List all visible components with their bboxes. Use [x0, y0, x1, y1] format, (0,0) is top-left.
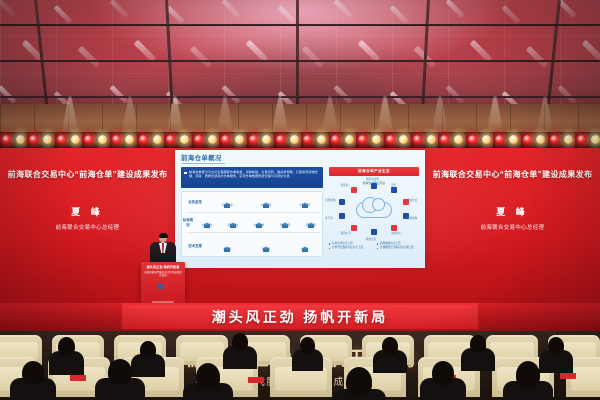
- diagram-node: [351, 187, 357, 193]
- audience-head: [58, 337, 75, 356]
- stage-lamp-warm: [480, 133, 493, 148]
- right-speaker-name: 夏 峰: [425, 205, 600, 218]
- capability-cell: 质检标准: [220, 216, 246, 227]
- diagram-node: [339, 199, 345, 205]
- audience-area: [0, 331, 600, 400]
- stage-lamp-warm: [507, 133, 520, 148]
- capability-cell: 风控体系: [298, 216, 324, 227]
- stage-lamp-red: [247, 133, 260, 148]
- stage-lamp-red: [274, 133, 287, 148]
- lamp-bulb-icon: [550, 135, 559, 144]
- lamp-bulb-icon: [2, 135, 11, 144]
- lamp-bulb-icon: [509, 135, 518, 144]
- podium-text: 潮头风正劲 扬帆开新局 前海深港现代服务业合作区成果发布活动: [144, 265, 182, 278]
- lamp-bulb-icon: [468, 135, 477, 144]
- cloud-icon: [356, 202, 392, 218]
- capability-cell: 物联网: [253, 240, 279, 251]
- capability-row: 业务应用仓单注册仓单流转仓单质押: [182, 196, 324, 207]
- stage-lamp-warm: [288, 133, 301, 148]
- capability-row-label: 业务应用: [182, 199, 208, 204]
- speaker-hair: [159, 233, 168, 238]
- diagram-node-label: 仓储企业: [407, 198, 417, 202]
- left-speaker-name: 夏 峰: [0, 205, 175, 218]
- right-speaker-role: 前海联合交易中心总经理: [425, 223, 600, 231]
- presentation-slide: 前海仓单概况 前海仓单登记平台可全程跟踪仓单收发、货物检验、交易流转、融资质押等…: [175, 150, 425, 268]
- audience-head: [548, 337, 564, 355]
- audience-head: [196, 363, 220, 391]
- lamp-bulb-icon: [235, 135, 244, 144]
- audience-head: [382, 337, 398, 355]
- capability-row-label: 标准规则: [182, 217, 194, 227]
- lamp-bulb-icon: [208, 135, 217, 144]
- lamp-bulb-icon: [125, 135, 134, 144]
- chart-icon: [229, 216, 237, 223]
- slide-bullet-groups: 标准仓单业务上链仓单登记数据可信共享上链 质押融资信息上链仓储物流全流程可信追溯…: [329, 242, 421, 251]
- capability-cells: 仓单注册仓单流转仓单质押: [208, 196, 324, 207]
- stage-lamp-red: [493, 133, 506, 148]
- capability-cell: 仓单流转: [253, 196, 279, 207]
- lamp-bulb-icon: [427, 135, 436, 144]
- stage-lamp-red: [438, 133, 451, 148]
- diagram-node: [351, 225, 357, 231]
- stage-lamp-red: [466, 133, 479, 148]
- stage-lamp-warm: [425, 133, 438, 148]
- left-headline: 前海联合交易中心“前海仓单”建设成果发布: [0, 170, 175, 181]
- diagram-node-label: 生产商: [325, 216, 333, 220]
- iot-icon: [262, 240, 270, 247]
- stage-lamp-red: [301, 133, 314, 148]
- audience-head: [470, 335, 486, 353]
- right-headline: 前海联合交易中心“前海仓单”建设成果发布: [425, 170, 600, 181]
- bullets-right: 质押融资信息上链仓储物流全流程可信追溯上链: [377, 242, 421, 251]
- stage-lamp-red: [356, 133, 369, 148]
- capability-caption: 质检标准: [220, 224, 246, 227]
- lamp-bulb-icon: [262, 135, 271, 144]
- podium: 潮头风正劲 扬帆开新局 前海深港现代服务业合作区成果发布活动: [141, 262, 185, 308]
- stage-lamp-warm: [534, 133, 547, 148]
- diagram-node: [371, 229, 377, 235]
- capability-caption: 物联网: [253, 248, 279, 251]
- lamp-bulb-icon: [112, 135, 121, 144]
- stage-lamp-red: [219, 133, 232, 148]
- capability-divider: [186, 232, 320, 233]
- stage-lamp-warm: [206, 133, 219, 148]
- capability-cells: 区块链物联网大数据: [208, 240, 324, 251]
- lock-icon: [301, 196, 309, 203]
- capability-divider: [186, 212, 320, 213]
- bullets-left: 标准仓单业务上链仓单登记数据可信共享上链: [329, 242, 373, 251]
- lamp-bulb-icon: [440, 135, 449, 144]
- audience-head: [432, 361, 454, 385]
- conference-hall-photo: 前海联合交易中心“前海仓单”建设成果发布 夏 峰 前海联合交易中心总经理 前海联…: [0, 0, 600, 400]
- capability-row-label: 技术支撑: [182, 243, 208, 248]
- podium-line2: 前海深港现代服务业合作区成果发布活动: [144, 271, 182, 279]
- name-card: [248, 377, 264, 383]
- stage-light-bar: [0, 132, 600, 149]
- capability-caption: 仓单流转: [253, 204, 279, 207]
- audience-head: [140, 341, 156, 359]
- cloud-center-label: 前海仓单登记平台: [329, 182, 419, 186]
- lamp-bulb-icon: [358, 135, 367, 144]
- callout-bullet-icon: [184, 172, 187, 175]
- stage-lamp-red: [55, 133, 68, 148]
- audience-head: [22, 361, 44, 385]
- lamp-bulb-icon: [16, 135, 25, 144]
- lamp-bulb-icon: [71, 135, 80, 144]
- stage-apron-right: [478, 303, 600, 331]
- stage-lamp-warm: [260, 133, 273, 148]
- lamp-bulb-icon: [331, 135, 340, 144]
- lamp-bulb-icon: [317, 135, 326, 144]
- diagram-node: [391, 187, 397, 193]
- lamp-bulb-icon: [139, 135, 148, 144]
- lamp-bulb-icon: [166, 135, 175, 144]
- podium-line1: 潮头风正劲 扬帆开新局: [144, 265, 182, 270]
- stage-lamp-warm: [452, 133, 465, 148]
- prefecture-logo-icon: [157, 284, 169, 289]
- stage-lamp-red: [411, 133, 424, 148]
- capability-cell: 仓单注册: [214, 196, 240, 207]
- lamp-bulb-icon: [290, 135, 299, 144]
- stage-lamp-warm: [397, 133, 410, 148]
- lamp-bulb-icon: [536, 135, 545, 144]
- diagram-node-label: 交易中心: [391, 231, 401, 235]
- lamp-bulb-icon: [180, 135, 189, 144]
- diagram-node: [391, 225, 397, 231]
- stage-lamp-warm: [151, 133, 164, 148]
- stage-lamp-warm: [123, 133, 136, 148]
- stage-lamp-red: [82, 133, 95, 148]
- briefcase-icon: [307, 216, 315, 223]
- lamp-bulb-icon: [523, 135, 532, 144]
- lamp-bulb-icon: [57, 135, 66, 144]
- stage-lamp-red: [521, 133, 534, 148]
- slide-callout-box: 前海仓单登记平台可全程跟踪仓单收发、货物检验、交易流转、融资质押等，打造贯穿货物…: [181, 167, 323, 188]
- stage-lamp-red: [0, 133, 13, 148]
- lamp-bulb-icon: [386, 135, 395, 144]
- lamp-bulb-icon: [495, 135, 504, 144]
- stage-lamp-warm: [343, 133, 356, 148]
- stage-lamp-warm: [562, 133, 575, 148]
- blockchain-icon: [223, 240, 231, 247]
- audience-head: [300, 337, 315, 354]
- lamp-bulb-icon: [98, 135, 107, 144]
- capability-row: 技术支撑区块链物联网大数据: [182, 240, 324, 251]
- capability-cell: 仓单质押: [292, 196, 318, 207]
- stage-lamp-red: [27, 133, 40, 148]
- speaker-person: [148, 233, 178, 265]
- capability-caption: 仓单注册: [214, 204, 240, 207]
- stage-apron-left: [0, 303, 122, 331]
- audience-head: [516, 361, 540, 389]
- capability-cell: 金融机构: [246, 216, 272, 227]
- slide-bullet: 仓单登记数据可信共享上链: [329, 246, 373, 250]
- stage-lamp-warm: [589, 133, 600, 148]
- lamp-bulb-icon: [153, 135, 162, 144]
- stage-lamp-warm: [178, 133, 191, 148]
- document-icon: [203, 216, 211, 223]
- capability-cell: 仓储标准: [194, 216, 220, 227]
- lamp-bulb-icon: [399, 135, 408, 144]
- lamp-bulb-icon: [194, 135, 203, 144]
- slide-callout-text: 前海仓单登记平台可全程跟踪仓单收发、货物检验、交易流转、融资质押等，打造贯穿货物…: [189, 170, 320, 180]
- stage-lamp-warm: [233, 133, 246, 148]
- stage-lamp-red: [192, 133, 205, 148]
- lamp-bulb-icon: [372, 135, 381, 144]
- lamp-bulb-icon: [577, 135, 586, 144]
- stage-lamp-red: [137, 133, 150, 148]
- capability-cell: 登记规则: [272, 216, 298, 227]
- audience-head: [108, 359, 132, 385]
- lamp-bulb-icon: [84, 135, 93, 144]
- stage-lamp-red: [384, 133, 397, 148]
- ceiling-rail: [0, 60, 600, 62]
- diagram-node-label: 物流企业: [366, 237, 376, 241]
- lamp-bulb-icon: [43, 135, 52, 144]
- diagram-node-label: 保险公司: [341, 231, 351, 235]
- dots-icon: [281, 216, 289, 223]
- led-right-title-panel: 前海联合交易中心“前海仓单”建设成果发布 夏 峰 前海联合交易中心总经理: [425, 148, 600, 260]
- stage-lamp-warm: [41, 133, 54, 148]
- bigdata-icon: [301, 240, 309, 247]
- name-card: [70, 375, 86, 381]
- stage-lamp-warm: [96, 133, 109, 148]
- capability-caption: 大数据: [292, 248, 318, 251]
- audience-head: [232, 333, 248, 351]
- ceiling-rail: [0, 24, 600, 26]
- ceiling-rail: [0, 96, 600, 98]
- lamp-bulb-icon: [276, 135, 285, 144]
- slide-title: 前海仓单概况: [181, 153, 222, 162]
- diagram-node-label: 质检机构: [407, 216, 417, 220]
- warehouse-icon: [223, 196, 231, 203]
- stage-lamp-red: [164, 133, 177, 148]
- diagram-node: [339, 213, 345, 219]
- slide-title-rule: [181, 163, 225, 164]
- stage-banner: 潮头风正劲 扬帆开新局: [121, 305, 478, 329]
- slide-bullet: 仓储物流全流程可信追溯上链: [377, 246, 421, 250]
- lamp-bulb-icon: [591, 135, 600, 144]
- stage-lamp-red: [110, 133, 123, 148]
- capability-cells: 仓储标准质检标准金融机构登记规则风控体系: [194, 216, 324, 227]
- lamp-bulb-icon: [29, 135, 38, 144]
- slide-capability-card: 业务应用仓单注册仓单流转仓单质押标准规则仓储标准质检标准金融机构登记规则风控体系…: [181, 191, 323, 257]
- capability-caption: 风控体系: [298, 224, 324, 227]
- stage-lamp-red: [329, 133, 342, 148]
- ceiling: [0, 0, 600, 112]
- stage-lamp-red: [575, 133, 588, 148]
- slide-ecosystem-banner: 前海仓单产业生态: [329, 167, 419, 176]
- stage-lamp-warm: [315, 133, 328, 148]
- lamp-bulb-icon: [564, 135, 573, 144]
- capability-cell: 区块链: [214, 240, 240, 251]
- lamp-bulb-icon: [413, 135, 422, 144]
- audience-head: [346, 367, 372, 397]
- lamp-bulb-icon: [303, 135, 312, 144]
- network-icon: [262, 196, 270, 203]
- lamp-bulb-icon: [454, 135, 463, 144]
- stage-lamp-warm: [14, 133, 27, 148]
- stage-lamp-red: [548, 133, 561, 148]
- lamp-bulb-icon: [482, 135, 491, 144]
- stage-banner-text: 潮头风正劲 扬帆开新局: [211, 307, 388, 327]
- capability-caption: 仓储标准: [194, 224, 220, 227]
- capability-caption: 登记规则: [272, 224, 298, 227]
- lamp-bulb-icon: [249, 135, 258, 144]
- capability-caption: 仓单质押: [292, 204, 318, 207]
- name-card: [560, 373, 576, 379]
- left-speaker-role: 前海联合交易中心总经理: [0, 223, 175, 231]
- capability-cell: 大数据: [292, 240, 318, 251]
- ecosystem-diagram: 前海仓单登记平台 期货交易所银行仓储企业质检机构交易中心物流企业保险公司生产商监…: [329, 178, 419, 240]
- lamp-bulb-icon: [221, 135, 230, 144]
- capability-row: 标准规则仓储标准质检标准金融机构登记规则风控体系: [182, 216, 324, 227]
- diagram-node-label: 监管机构: [325, 198, 335, 202]
- stage-lamp-warm: [370, 133, 383, 148]
- capability-caption: 金融机构: [246, 224, 272, 227]
- bank-icon: [255, 216, 263, 223]
- stage-lamp-warm: [69, 133, 82, 148]
- lamp-bulb-icon: [345, 135, 354, 144]
- capability-caption: 区块链: [214, 248, 240, 251]
